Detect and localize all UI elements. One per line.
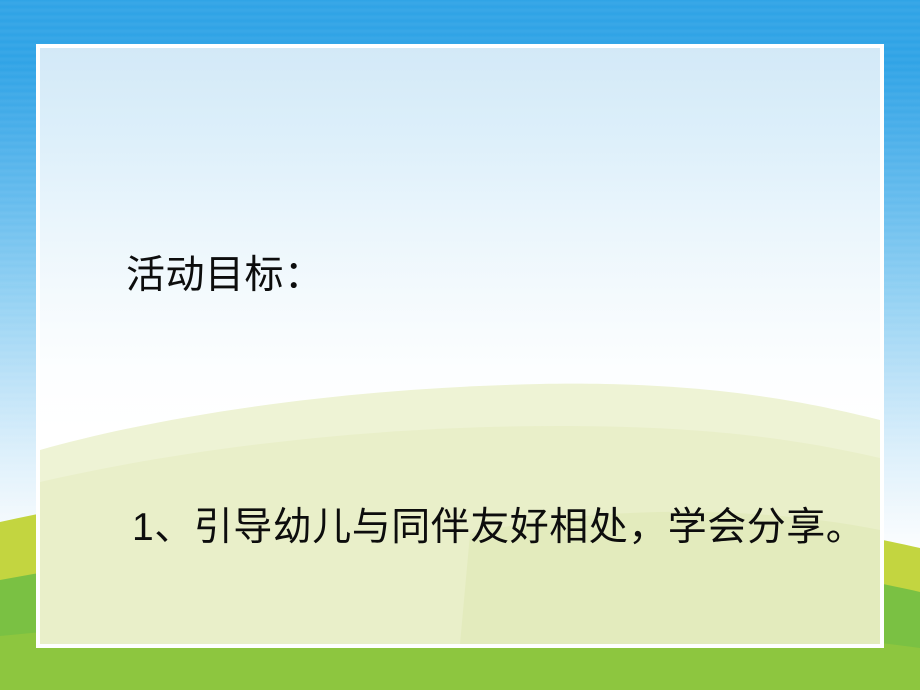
goal-item-1: 1、引导幼儿与同伴友好相处，学会分享。 — [54, 486, 866, 570]
slide-text-body: 活动目标： 1、引导幼儿与同伴友好相处，学会分享。 2、通过活动使幼儿体验，大家… — [40, 48, 880, 644]
slide-title-line: 活动目标： — [54, 234, 866, 318]
content-panel-frame: 活动目标： 1、引导幼儿与同伴友好相处，学会分享。 2、通过活动使幼儿体验，大家… — [36, 44, 884, 648]
presentation-slide: 活动目标： 1、引导幼儿与同伴友好相处，学会分享。 2、通过活动使幼儿体验，大家… — [0, 0, 920, 690]
content-panel: 活动目标： 1、引导幼儿与同伴友好相处，学会分享。 2、通过活动使幼儿体验，大家… — [40, 48, 880, 644]
